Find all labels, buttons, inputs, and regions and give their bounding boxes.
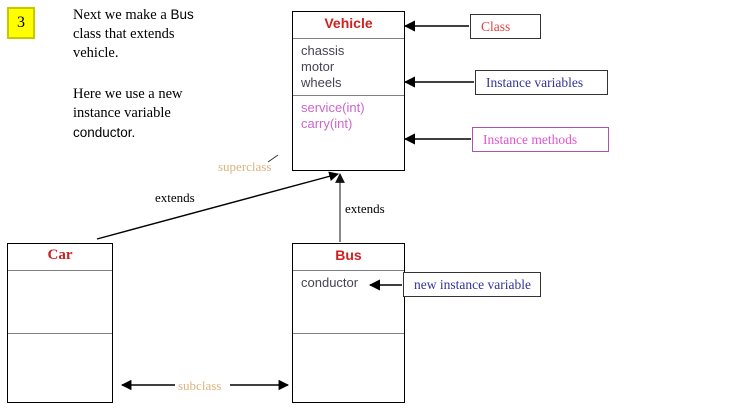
callout-new-instance-variable[interactable]: new instance variable bbox=[403, 272, 541, 297]
narrative-2-pre: Here we use a new instance variable bbox=[73, 86, 183, 121]
slide-canvas: 3 Next we make a Bus class that extends … bbox=[0, 0, 730, 418]
uml-class-car[interactable]: Car bbox=[7, 243, 113, 403]
car-name-compartment: Car bbox=[8, 244, 112, 271]
car-methods-compartment bbox=[8, 334, 112, 402]
step-number-badge: 3 bbox=[7, 7, 35, 39]
callout-instance-variables[interactable]: Instance variables bbox=[475, 70, 608, 95]
callout-new-instance-variable-label: new instance variable bbox=[414, 277, 531, 293]
narrative-2-term-conductor: conductor. bbox=[73, 125, 135, 140]
car-attributes-compartment bbox=[8, 271, 112, 334]
vehicle-class-name: Vehicle bbox=[293, 12, 404, 31]
callout-instance-methods[interactable]: Instance methods bbox=[472, 127, 609, 152]
callout-class-label: Class bbox=[481, 19, 510, 35]
vehicle-attribute: wheels bbox=[293, 75, 404, 91]
bus-name-compartment: Bus bbox=[293, 244, 404, 271]
connector-car-extends-vehicle bbox=[97, 174, 338, 239]
car-class-name: Car bbox=[8, 244, 112, 264]
narrative-1-post: class that extends vehicle. bbox=[73, 26, 174, 61]
narrative-paragraph-1: Next we make a Bus class that extends ve… bbox=[73, 5, 248, 63]
vehicle-name-compartment: Vehicle bbox=[293, 12, 404, 39]
bus-attribute: conductor bbox=[293, 275, 404, 291]
callout-instance-methods-label: Instance methods bbox=[483, 132, 577, 148]
narrative-paragraph-2: Here we use a new instance variable cond… bbox=[73, 85, 248, 143]
uml-class-vehicle[interactable]: Vehicle chassis motor wheels service(int… bbox=[292, 11, 405, 171]
relationship-label-extends-bus: extends bbox=[345, 201, 385, 217]
vehicle-method: carry(int) bbox=[293, 116, 404, 132]
vehicle-attribute: motor bbox=[293, 59, 404, 75]
relationship-label-superclass: superclass bbox=[218, 159, 271, 175]
vehicle-attributes-compartment: chassis motor wheels bbox=[293, 39, 404, 96]
bus-attributes-compartment: conductor bbox=[293, 271, 404, 334]
step-number-label: 3 bbox=[17, 14, 25, 32]
relationship-label-subclass: subclass bbox=[178, 378, 221, 394]
vehicle-methods-compartment: service(int) carry(int) bbox=[293, 96, 404, 170]
callout-instance-variables-label: Instance variables bbox=[486, 75, 583, 91]
vehicle-attribute: chassis bbox=[293, 43, 404, 59]
relationship-label-extends-car: extends bbox=[155, 190, 195, 206]
callout-class[interactable]: Class bbox=[470, 14, 541, 39]
narrative-1-pre: Next we make a bbox=[73, 7, 170, 23]
bus-class-name: Bus bbox=[293, 244, 404, 263]
vehicle-method: service(int) bbox=[293, 100, 404, 116]
uml-class-bus[interactable]: Bus conductor bbox=[292, 243, 405, 403]
narrative-1-term-bus: Bus bbox=[170, 7, 193, 22]
bus-methods-compartment bbox=[293, 334, 404, 402]
